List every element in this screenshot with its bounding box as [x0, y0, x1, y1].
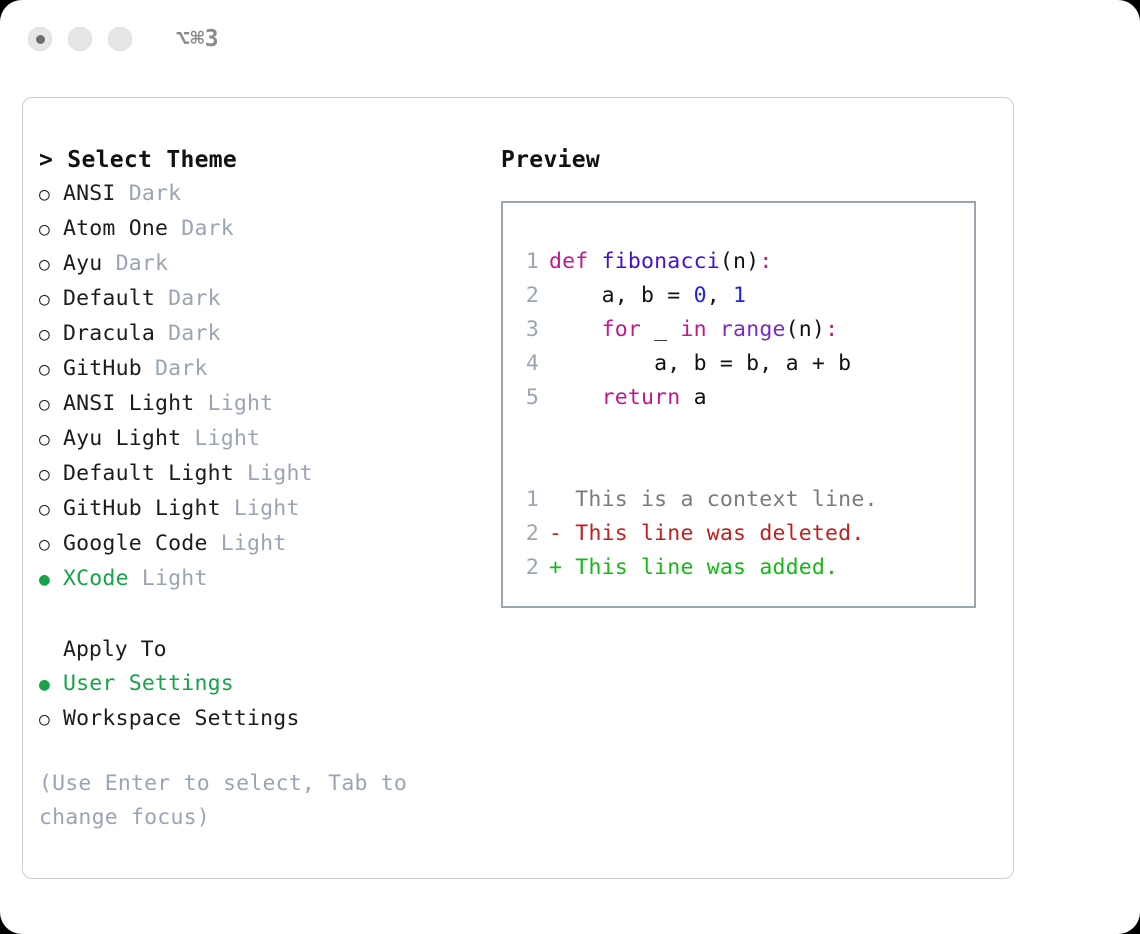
theme-option-tag: Light [194, 387, 273, 421]
code-line: 5 return a [503, 381, 974, 415]
token-plain [707, 317, 720, 342]
theme-preview-box: 1 def fibonacci(n): 2 a, b = 0, 1 3 for … [501, 201, 976, 608]
theme-option-github-light[interactable]: ○ GitHub Light Light [39, 492, 499, 527]
theme-option-tag: Dark [155, 282, 221, 316]
radio-icon: ○ [39, 388, 63, 422]
line-number: 2 [503, 551, 549, 585]
apply-to-option-list: ● User Settings ○ Workspace Settings [39, 667, 499, 737]
token-plain: (n) [720, 249, 759, 274]
radio-icon: ○ [39, 318, 63, 352]
theme-option-label: Dracula [63, 317, 155, 351]
token-plain [549, 317, 602, 342]
theme-option-ansi-light[interactable]: ○ ANSI Light Light [39, 387, 499, 422]
token-call: range [720, 317, 786, 342]
radio-icon: ○ [39, 423, 63, 457]
code-line: 3 for _ in range(n): [503, 313, 974, 347]
radio-icon: ○ [39, 283, 63, 317]
radio-icon: ○ [39, 178, 63, 212]
title-bar: ⌥⌘3 [0, 0, 1140, 78]
diff-sample: 1 This is a context line. 2 - This line … [503, 483, 974, 585]
apply-to-option-label: Workspace Settings [63, 702, 300, 736]
preview-heading: Preview [501, 143, 1001, 177]
code-text: for _ in range(n): [549, 313, 838, 347]
radio-icon: ○ [39, 213, 63, 247]
window-dot-2-icon[interactable] [68, 27, 92, 51]
theme-option-xcode-light[interactable]: ● XCode Light [39, 562, 499, 597]
theme-option-ayu-light[interactable]: ○ Ayu Light Light [39, 422, 499, 457]
line-number: 2 [503, 279, 549, 313]
window-dot-active-icon[interactable] [28, 27, 52, 51]
line-number: 4 [503, 347, 549, 381]
theme-option-dracula-dark[interactable]: ○ Dracula Dark [39, 317, 499, 352]
theme-option-tag: Dark [155, 317, 221, 351]
diff-text: This line was deleted. [562, 517, 864, 551]
preview-gap-2 [503, 449, 974, 483]
keyboard-hint-text: (Use Enter to select, Tab to change focu… [39, 767, 459, 835]
token-plain: _ [641, 317, 680, 342]
diff-text: This is a context line. [549, 483, 878, 517]
theme-option-tag: Light [181, 422, 260, 456]
token-number: 1 [733, 283, 746, 308]
diff-line-context: 1 This is a context line. [503, 483, 974, 517]
theme-option-github-dark[interactable]: ○ GitHub Dark [39, 352, 499, 387]
app-window: ⌥⌘3 > Select Theme ○ ANSI Dark ○ Atom On… [0, 0, 1140, 934]
select-theme-heading: > Select Theme [39, 143, 499, 177]
theme-option-label: GitHub [63, 352, 142, 386]
theme-option-list: ○ ANSI Dark ○ Atom One Dark ○ Ayu Dark [39, 177, 499, 597]
apply-to-heading-label: Apply To [63, 633, 167, 667]
diff-text: This line was added. [562, 551, 838, 585]
theme-option-ayu-dark[interactable]: ○ Ayu Dark [39, 247, 499, 282]
theme-picker-column: > Select Theme ○ ANSI Dark ○ Atom One Da… [39, 143, 499, 835]
theme-option-tag: Light [129, 562, 208, 596]
diff-sign: - [549, 517, 562, 551]
keyboard-shortcut-label: ⌥⌘3 [176, 26, 219, 52]
theme-option-google-code[interactable]: ○ Google Code Light [39, 527, 499, 562]
theme-option-label: Ayu [63, 247, 102, 281]
diff-line-deleted: 2 - This line was deleted. [503, 517, 974, 551]
token-plain: a, b = [549, 283, 694, 308]
theme-option-tag: Light [208, 527, 287, 561]
theme-option-tag: Dark [102, 247, 168, 281]
code-line: 2 a, b = 0, 1 [503, 279, 974, 313]
theme-option-label: GitHub Light [63, 492, 221, 526]
code-line: 4 a, b = b, a + b [503, 347, 974, 381]
theme-option-label: Google Code [63, 527, 208, 561]
apply-to-heading: Apply To [39, 633, 499, 667]
token-function: fibonacci [602, 249, 720, 274]
theme-option-default-light[interactable]: ○ Default Light Light [39, 457, 499, 492]
token-punctuation: : [759, 249, 772, 274]
code-line: 1 def fibonacci(n): [503, 245, 974, 279]
code-sample: 1 def fibonacci(n): 2 a, b = 0, 1 3 for … [503, 245, 974, 415]
token-number: 0 [694, 283, 707, 308]
radio-icon: ○ [39, 353, 63, 387]
theme-option-tag: Dark [168, 212, 234, 246]
apply-to-option-workspace-settings[interactable]: ○ Workspace Settings [39, 702, 499, 737]
preview-column: Preview 1 def fibonacci(n): 2 a, b = 0, … [501, 143, 1001, 608]
code-text: return a [549, 381, 707, 415]
hint-spacer [39, 737, 499, 767]
theme-option-label: Ayu Light [63, 422, 181, 456]
token-plain: , [707, 283, 733, 308]
token-keyword: def [549, 249, 602, 274]
token-plain: (n) [786, 317, 825, 342]
token-plain [549, 385, 602, 410]
theme-option-tag: Dark [116, 177, 182, 211]
main-panel: > Select Theme ○ ANSI Dark ○ Atom One Da… [22, 97, 1014, 879]
code-text: a, b = 0, 1 [549, 279, 746, 313]
radio-icon: ○ [39, 458, 63, 492]
theme-option-label: Atom One [63, 212, 168, 246]
token-plain: a, b = b, a + b [549, 351, 851, 376]
line-number: 3 [503, 313, 549, 347]
theme-option-label: Default [63, 282, 155, 316]
apply-to-option-user-settings[interactable]: ● User Settings [39, 667, 499, 702]
theme-option-label: ANSI [63, 177, 116, 211]
token-punctuation: : [825, 317, 838, 342]
diff-sign: + [549, 551, 562, 585]
line-number: 2 [503, 517, 549, 551]
token-plain: a [680, 385, 706, 410]
line-number: 1 [503, 245, 549, 279]
token-keyword: for [602, 317, 641, 342]
section-spacer [39, 597, 499, 633]
diff-line-added: 2 + This line was added. [503, 551, 974, 585]
theme-option-atom-one-dark[interactable]: ○ Atom One Dark [39, 212, 499, 247]
window-dot-3-icon[interactable] [108, 27, 132, 51]
radio-icon: ○ [39, 248, 63, 282]
code-text: a, b = b, a + b [549, 347, 851, 381]
theme-option-tag: Dark [142, 352, 208, 386]
theme-option-label: Default Light [63, 457, 234, 491]
theme-option-default-dark[interactable]: ○ Default Dark [39, 282, 499, 317]
theme-option-tag: Light [221, 492, 300, 526]
window-dot-active-inner [36, 35, 45, 44]
preview-gap [503, 415, 974, 449]
radio-icon: ○ [39, 703, 63, 737]
code-text: def fibonacci(n): [549, 245, 772, 279]
theme-option-label: XCode [63, 562, 129, 596]
line-number: 5 [503, 381, 549, 415]
apply-to-option-label: User Settings [63, 667, 234, 701]
line-number: 1 [503, 483, 549, 517]
radio-selected-icon: ● [39, 668, 63, 702]
token-keyword: return [602, 385, 681, 410]
radio-icon: ○ [39, 493, 63, 527]
theme-option-tag: Light [234, 457, 313, 491]
theme-option-label: ANSI Light [63, 387, 194, 421]
token-keyword: in [680, 317, 706, 342]
theme-option-ansi-dark[interactable]: ○ ANSI Dark [39, 177, 499, 212]
radio-icon: ○ [39, 528, 63, 562]
radio-selected-icon: ● [39, 563, 63, 597]
